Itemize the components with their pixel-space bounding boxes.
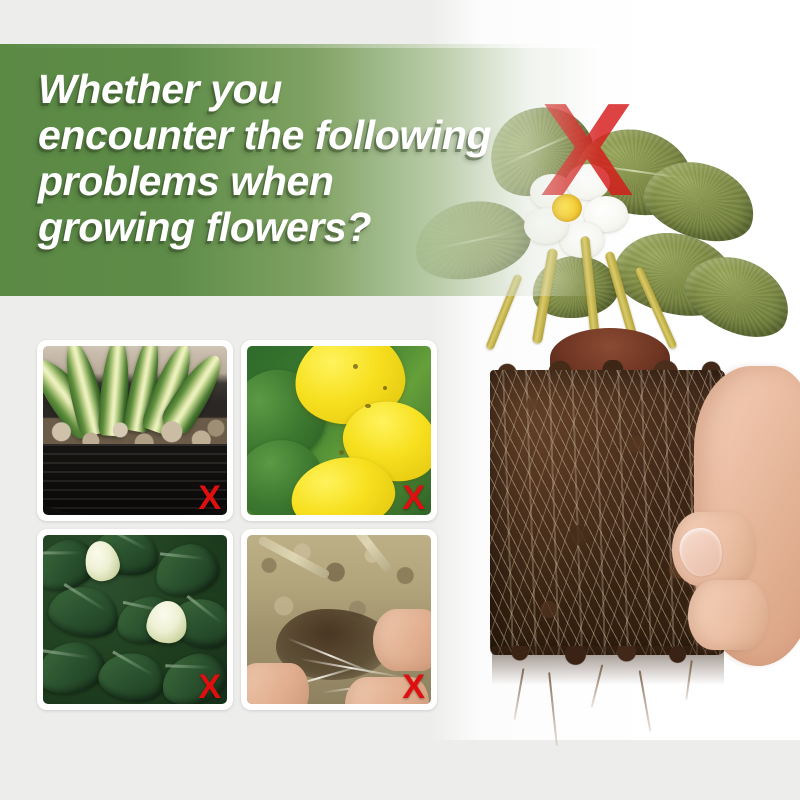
rose-leaf [95,647,170,704]
rose-leaf [43,637,109,698]
problem-x-marker: X [198,481,221,515]
problem-x-marker: X [198,670,221,704]
finger [247,663,309,704]
leaf-spot [383,386,387,390]
leaf-spot [353,364,358,369]
middle-finger [688,580,768,650]
problem-x-marker: X [402,670,425,704]
finger [373,609,431,671]
rose-leaf [151,539,224,601]
poster-canvas: X Whether you encounter the following pr… [0,0,800,800]
problem-card-snake-plant[interactable]: X [37,340,233,521]
problem-card-rose-buds[interactable]: X [37,529,233,710]
problem-thumbnail-grid: X X [37,340,437,715]
photo-yellowing-leaves: X [247,346,431,515]
problem-card-yellowing-leaves[interactable]: X [241,340,437,521]
problem-card-bare-roots[interactable]: X [241,529,437,710]
photo-bare-weak-roots: X [247,535,431,704]
leaf-spot [365,404,371,408]
problem-x-marker: X [402,481,425,515]
leaf-spot [339,450,344,455]
banner-top-highlight [0,44,600,48]
page-title: Whether you encounter the following prob… [38,66,598,250]
photo-rose-unopened-buds: X [43,535,227,704]
photo-snake-plant-in-pot: X [43,346,227,515]
hand-holding-rootball [658,348,800,678]
